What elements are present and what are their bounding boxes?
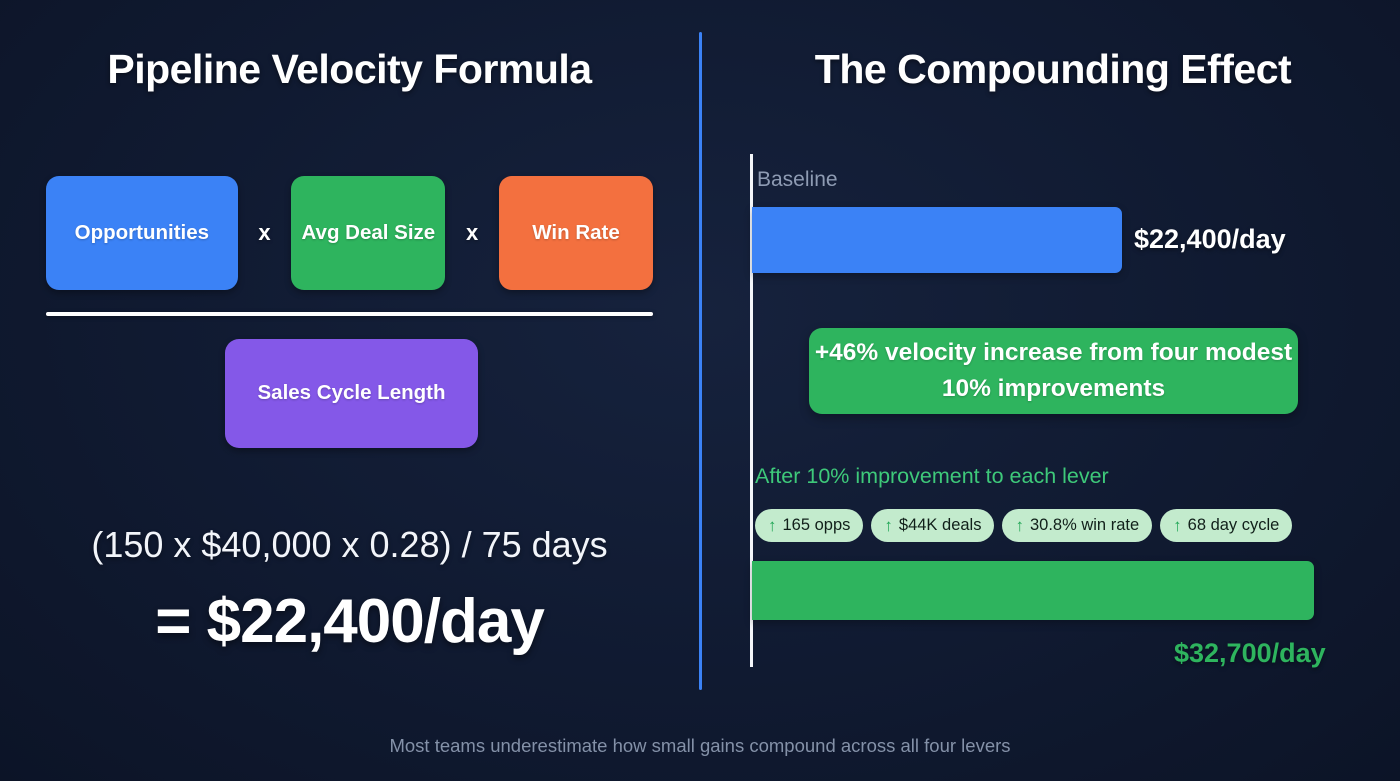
lever-pill-label: 30.8% win rate bbox=[1030, 516, 1139, 535]
arrow-up-icon: ↑ bbox=[768, 517, 777, 534]
right-panel-title: The Compounding Effect bbox=[702, 46, 1400, 93]
lever-pill-sales-cycle: ↑ 68 day cycle bbox=[1160, 509, 1292, 542]
multiply-operator-1: x bbox=[238, 220, 292, 246]
improved-bar bbox=[752, 561, 1314, 620]
formula-box-opportunities: Opportunities bbox=[46, 176, 238, 290]
baseline-bar bbox=[752, 207, 1122, 273]
lever-pill-label: 165 opps bbox=[783, 516, 851, 535]
improved-bar-value: $32,700/day bbox=[1174, 638, 1326, 669]
formula-box-sales-cycle-length: Sales Cycle Length bbox=[225, 339, 478, 448]
calculation-expression: (150 x $40,000 x 0.28) / 75 days bbox=[0, 524, 699, 566]
formula-box-win-rate: Win Rate bbox=[499, 176, 653, 290]
left-panel-title: Pipeline Velocity Formula bbox=[0, 46, 699, 93]
footer-note: Most teams underestimate how small gains… bbox=[0, 735, 1400, 757]
formula-numerator: Opportunities x Avg Deal Size x Win Rate bbox=[46, 176, 653, 290]
calculation-result: = $22,400/day bbox=[0, 586, 699, 657]
formula-box-avg-deal-size: Avg Deal Size bbox=[291, 176, 445, 290]
fraction-divider-bar bbox=[46, 312, 653, 316]
baseline-bar-value: $22,400/day bbox=[1134, 224, 1286, 255]
lever-pill-label: $44K deals bbox=[899, 516, 982, 535]
lever-pill-opportunities: ↑ 165 opps bbox=[755, 509, 863, 542]
pipeline-velocity-formula-panel: Pipeline Velocity Formula Opportunities … bbox=[0, 0, 699, 710]
baseline-group-label: Baseline bbox=[757, 168, 838, 192]
arrow-up-icon: ↑ bbox=[1015, 517, 1024, 534]
multiply-operator-2: x bbox=[445, 220, 499, 246]
lever-pill-win-rate: ↑ 30.8% win rate bbox=[1002, 509, 1152, 542]
arrow-up-icon: ↑ bbox=[884, 517, 893, 534]
after-improvement-group-label: After 10% improvement to each lever bbox=[755, 464, 1109, 489]
lever-pill-row: ↑ 165 opps ↑ $44K deals ↑ 30.8% win rate… bbox=[755, 509, 1365, 542]
lever-pill-label: 68 day cycle bbox=[1188, 516, 1280, 535]
infographic-stage: Pipeline Velocity Formula Opportunities … bbox=[0, 0, 1400, 781]
lever-pill-deal-size: ↑ $44K deals bbox=[871, 509, 994, 542]
velocity-increase-callout: +46% velocity increase from four modest … bbox=[809, 328, 1298, 414]
arrow-up-icon: ↑ bbox=[1173, 517, 1182, 534]
